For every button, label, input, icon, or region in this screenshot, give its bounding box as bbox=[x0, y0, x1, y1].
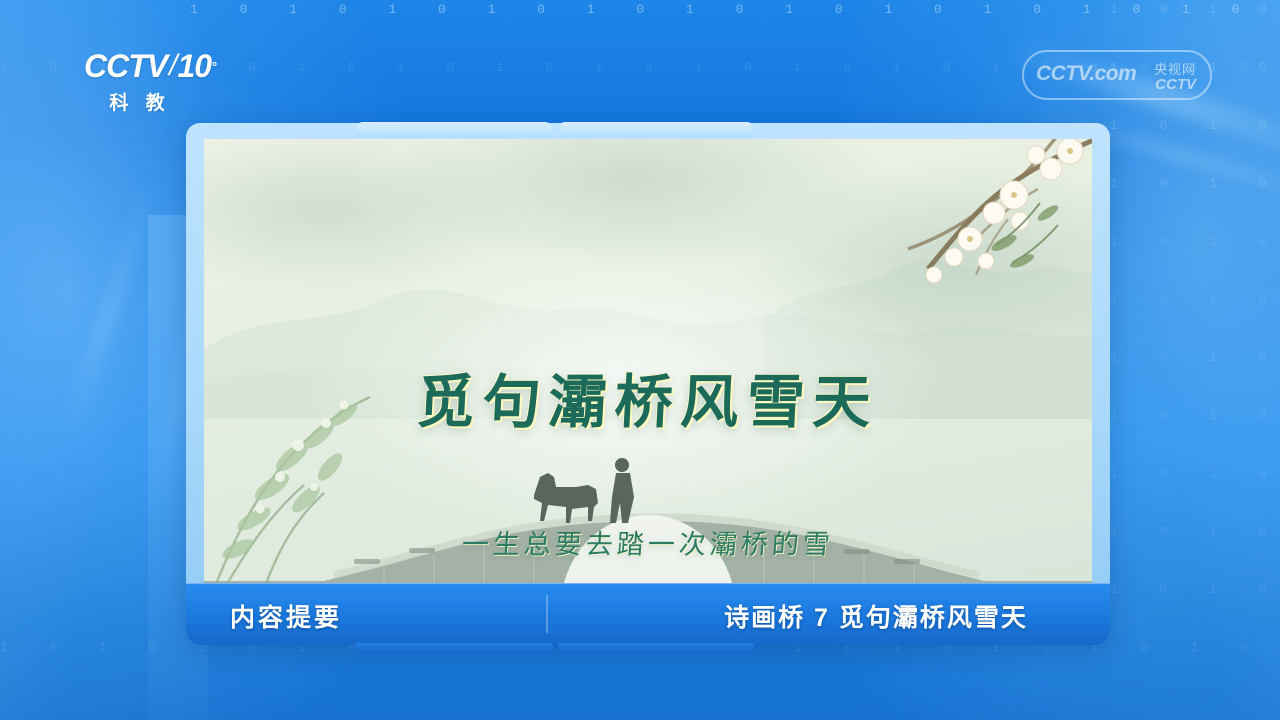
caption-section-label: 内容提要 bbox=[230, 598, 342, 634]
background-light-streak bbox=[57, 174, 163, 446]
background-panel-right bbox=[1105, 0, 1280, 720]
binary-row: 1 0 1 0 1 0 1 0 1 0 1 0 1 0 1 0 1 0 1 0 … bbox=[190, 2, 1280, 17]
lower-third-caption-bar: 内容提要 诗画桥 7 觅句灞桥风雪天 bbox=[186, 583, 1110, 645]
tv-broadcast-frame: 1 0 1 0 1 0 1 0 1 0 1 0 1 0 1 0 1 0 1 0 … bbox=[0, 0, 1280, 720]
background-panel-left bbox=[0, 0, 190, 720]
binary-row: 1 0 1 0 1 0 1 0 1 0 1 0 1 0 1 0 1 0 1 0 … bbox=[1110, 466, 1280, 481]
person-silhouette-icon bbox=[610, 458, 634, 523]
logo-slash: / bbox=[169, 51, 176, 81]
binary-row: 1 0 1 0 1 0 1 0 1 0 1 0 1 0 1 0 1 0 1 0 … bbox=[1110, 176, 1280, 191]
program-main-title: 觅句灞桥风雪天 bbox=[204, 355, 1092, 439]
caption-tab bbox=[356, 643, 552, 653]
caption-divider bbox=[546, 595, 548, 633]
binary-row: 1 0 1 0 1 0 1 0 1 0 1 0 1 0 1 0 1 0 1 0 … bbox=[1110, 2, 1280, 17]
binary-row: 1 0 1 0 1 0 1 0 1 0 1 0 1 0 1 0 1 0 1 0 … bbox=[1110, 350, 1280, 365]
plum-blossom-branch-icon bbox=[808, 139, 1092, 369]
binary-row: 1 0 1 0 1 0 1 0 1 0 1 0 1 0 1 0 1 0 1 0 … bbox=[1110, 234, 1280, 249]
caption-tab bbox=[558, 643, 754, 653]
binary-row: 1 0 1 0 1 0 1 0 1 0 1 0 1 0 1 0 1 0 1 0 … bbox=[0, 60, 1280, 75]
logo-degree-icon: ° bbox=[212, 60, 216, 73]
logo-number: 10 bbox=[177, 50, 211, 82]
logo-cctv-text: CCTV bbox=[84, 50, 167, 82]
binary-row: 1 0 1 0 1 0 1 0 1 0 1 0 1 0 1 0 1 0 1 0 … bbox=[1110, 292, 1280, 307]
program-subtitle: 一生总要去踏一次灞桥的雪 bbox=[204, 523, 1092, 562]
binary-row: 1 0 1 0 1 0 1 0 1 0 1 0 1 0 1 0 1 0 1 0 … bbox=[1110, 524, 1280, 539]
frame-notch bbox=[356, 122, 552, 138]
watermark-cn-brand: CCTV bbox=[1155, 76, 1196, 93]
logo-wordmark: CCTV/10° bbox=[84, 50, 216, 82]
watermark-cn-text: 央视网 bbox=[1154, 59, 1196, 78]
program-artwork-screen: 觅句灞桥风雪天 一生总要去踏一次灞桥的雪 bbox=[204, 139, 1092, 583]
binary-row: 1 0 1 0 1 0 1 0 1 0 1 0 1 0 1 0 1 0 1 0 … bbox=[1110, 60, 1280, 75]
binary-row: 1 0 1 0 1 0 1 0 1 0 1 0 1 0 1 0 1 0 1 0 … bbox=[1110, 118, 1280, 133]
frame-notch bbox=[558, 122, 754, 138]
horse-silhouette-icon bbox=[534, 473, 598, 523]
watermark-oval-shape bbox=[1022, 50, 1212, 100]
logo-subtitle-kejiao: 科 教 bbox=[84, 88, 196, 115]
caption-episode-title: 诗画桥 7 觅句灞桥风雪天 bbox=[676, 598, 1076, 634]
binary-row: 1 0 1 0 1 0 1 0 1 0 1 0 1 0 1 0 1 0 1 0 … bbox=[1110, 408, 1280, 423]
cctv-com-watermark: CCTV.com 央视网 CCTV bbox=[1022, 50, 1212, 100]
cctv10-channel-logo: CCTV/10° 科 教 bbox=[84, 50, 216, 115]
watermark-brand-text: CCTV.com bbox=[1036, 62, 1136, 86]
binary-row: 1 0 1 0 1 0 1 0 1 0 1 0 1 0 1 0 1 0 1 0 … bbox=[1110, 582, 1280, 597]
